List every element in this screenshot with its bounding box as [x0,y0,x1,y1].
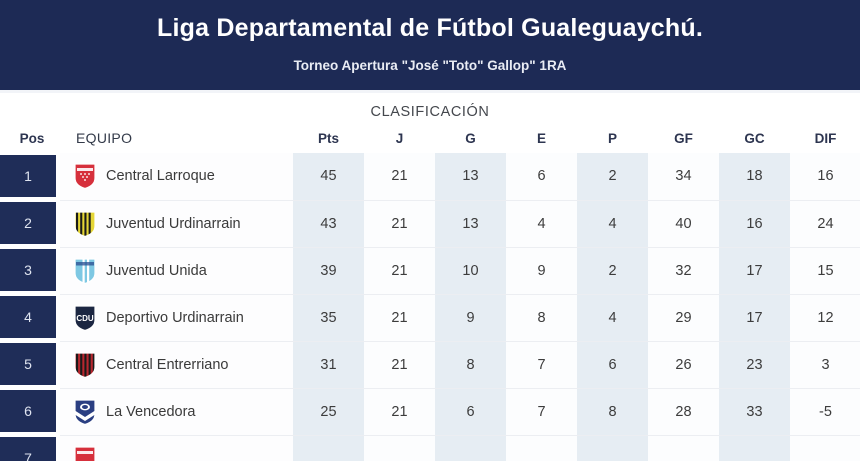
stat-cell-gc: 33 [719,388,790,435]
column-header-dif[interactable]: DIF [790,123,860,153]
crest-central-larroque [74,163,96,189]
stat-cell-gc [719,435,790,461]
stat-cell-gc: 17 [719,294,790,341]
column-header-pos[interactable]: Pos [0,123,60,153]
stat-cell-e: 8 [506,294,577,341]
standings-table-wrapper[interactable]: Pos EQUIPO Pts J G E P GF GC DIF 1Centra… [0,123,860,461]
table-body: 1Central Larroque452113623418162Juventud… [0,153,860,461]
crest-juventud-urdinarrain [74,211,96,237]
stat-cell-e [506,435,577,461]
stat-cell-j: 21 [364,294,435,341]
stat-cell-g [435,435,506,461]
table-row[interactable]: 2Juventud Urdinarrain43211344401624 [0,200,860,247]
team-cell[interactable]: Central Larroque [60,153,293,200]
team-name: Central Entrerriano [106,357,229,373]
table-row[interactable]: 1Central Larroque45211362341816 [0,153,860,200]
stat-cell-g: 13 [435,200,506,247]
stat-cell-g: 8 [435,341,506,388]
stat-cell-j: 21 [364,153,435,200]
stat-cell-gf: 34 [648,153,719,200]
position-cell: 1 [0,153,60,200]
page-header-banner: Liga Departamental de Fútbol Gualeguaych… [0,0,860,93]
column-header-e[interactable]: E [506,123,577,153]
position-badge: 3 [0,249,56,291]
section-title-row: CLASIFICACIÓN [0,93,860,123]
stat-cell-gc: 16 [719,200,790,247]
stat-cell-gc: 23 [719,341,790,388]
tournament-subtitle: Torneo Apertura "José "Toto" Gallop" 1RA [294,58,567,73]
standings-page: Liga Departamental de Fútbol Gualeguaych… [0,0,860,461]
team-cell[interactable]: Juventud Urdinarrain [60,200,293,247]
stat-cell-j: 21 [364,341,435,388]
table-header-row: Pos EQUIPO Pts J G E P GF GC DIF [0,123,860,153]
stat-cell-gf: 28 [648,388,719,435]
column-header-gf[interactable]: GF [648,123,719,153]
stat-cell-e: 7 [506,341,577,388]
svg-text:CDU: CDU [76,314,94,323]
stat-cell-dif: 3 [790,341,860,388]
column-header-gc[interactable]: GC [719,123,790,153]
stat-cell-j: 21 [364,388,435,435]
stat-cell-j [364,435,435,461]
team-cell[interactable]: La Vencedora [60,388,293,435]
column-header-j[interactable]: J [364,123,435,153]
stat-cell-g: 9 [435,294,506,341]
stat-cell-gf: 40 [648,200,719,247]
stat-cell-dif [790,435,860,461]
stat-cell-gf: 29 [648,294,719,341]
team-cell[interactable]: CDUDeportivo Urdinarrain [60,294,293,341]
stat-cell-gf [648,435,719,461]
crest-partial-row [74,446,96,461]
league-title: Liga Departamental de Fútbol Gualeguaych… [157,12,703,44]
team-name: Juventud Unida [106,263,207,279]
crest-central-entrerriano [74,352,96,378]
stat-cell-gc: 17 [719,247,790,294]
team-cell-inner: Central Entrerriano [60,352,293,378]
team-cell-inner: Central Larroque [60,163,293,189]
stat-cell-pts [293,435,364,461]
table-row[interactable]: 6La Vencedora25216782833-5 [0,388,860,435]
stat-cell-pts: 25 [293,388,364,435]
stat-cell-e: 4 [506,200,577,247]
position-badge: 1 [0,155,56,197]
stat-cell-p: 2 [577,153,648,200]
position-badge: 5 [0,343,56,385]
stat-cell-gc: 18 [719,153,790,200]
position-badge: 4 [0,296,56,338]
position-badge: 2 [0,202,56,244]
stat-cell-j: 21 [364,200,435,247]
position-cell: 7 [0,435,60,461]
stat-cell-dif: 15 [790,247,860,294]
stat-cell-g: 6 [435,388,506,435]
stat-cell-e: 7 [506,388,577,435]
stat-cell-p: 4 [577,200,648,247]
team-cell[interactable]: Central Entrerriano [60,341,293,388]
stat-cell-pts: 31 [293,341,364,388]
stat-cell-dif: -5 [790,388,860,435]
stat-cell-gf: 26 [648,341,719,388]
stat-cell-g: 13 [435,153,506,200]
stat-cell-e: 9 [506,247,577,294]
team-cell-inner: CDUDeportivo Urdinarrain [60,305,293,331]
position-cell: 2 [0,200,60,247]
stat-cell-e: 6 [506,153,577,200]
stat-cell-pts: 39 [293,247,364,294]
position-badge: 6 [0,390,56,432]
position-cell: 3 [0,247,60,294]
stat-cell-j: 21 [364,247,435,294]
stat-cell-dif: 12 [790,294,860,341]
stat-cell-gf: 32 [648,247,719,294]
position-cell: 5 [0,341,60,388]
team-name: Deportivo Urdinarrain [106,310,244,326]
column-header-p[interactable]: P [577,123,648,153]
table-row[interactable]: 7 [0,435,860,461]
team-name: Juventud Urdinarrain [106,216,241,232]
stat-cell-pts: 43 [293,200,364,247]
stat-cell-p [577,435,648,461]
position-cell: 4 [0,294,60,341]
standings-table: Pos EQUIPO Pts J G E P GF GC DIF 1Centra… [0,123,860,461]
table-row[interactable]: 5Central Entrerriano312187626233 [0,341,860,388]
team-cell[interactable] [60,435,293,461]
stat-cell-p: 4 [577,294,648,341]
team-cell-inner: Juventud Urdinarrain [60,211,293,237]
stat-cell-p: 8 [577,388,648,435]
stat-cell-p: 6 [577,341,648,388]
stat-cell-pts: 35 [293,294,364,341]
stat-cell-pts: 45 [293,153,364,200]
team-cell[interactable]: Juventud Unida [60,247,293,294]
stat-cell-p: 2 [577,247,648,294]
stat-cell-dif: 16 [790,153,860,200]
crest-deportivo-urdinarrain: CDU [74,305,96,331]
stat-cell-dif: 24 [790,200,860,247]
section-title: CLASIFICACIÓN [371,104,490,120]
table-header: Pos EQUIPO Pts J G E P GF GC DIF [0,123,860,153]
team-cell-inner: La Vencedora [60,399,293,425]
stat-cell-g: 10 [435,247,506,294]
table-row[interactable]: 3Juventud Unida39211092321715 [0,247,860,294]
position-cell: 6 [0,388,60,435]
column-header-g[interactable]: G [435,123,506,153]
position-badge: 7 [0,437,56,461]
team-name: La Vencedora [106,404,196,420]
crest-la-vencedora [74,399,96,425]
team-cell-inner: Juventud Unida [60,258,293,284]
column-header-team[interactable]: EQUIPO [60,123,293,153]
team-name: Central Larroque [106,168,215,184]
table-row[interactable]: 4CDUDeportivo Urdinarrain3521984291712 [0,294,860,341]
crest-juventud-unida [74,258,96,284]
team-cell-inner [60,446,293,461]
column-header-pts[interactable]: Pts [293,123,364,153]
